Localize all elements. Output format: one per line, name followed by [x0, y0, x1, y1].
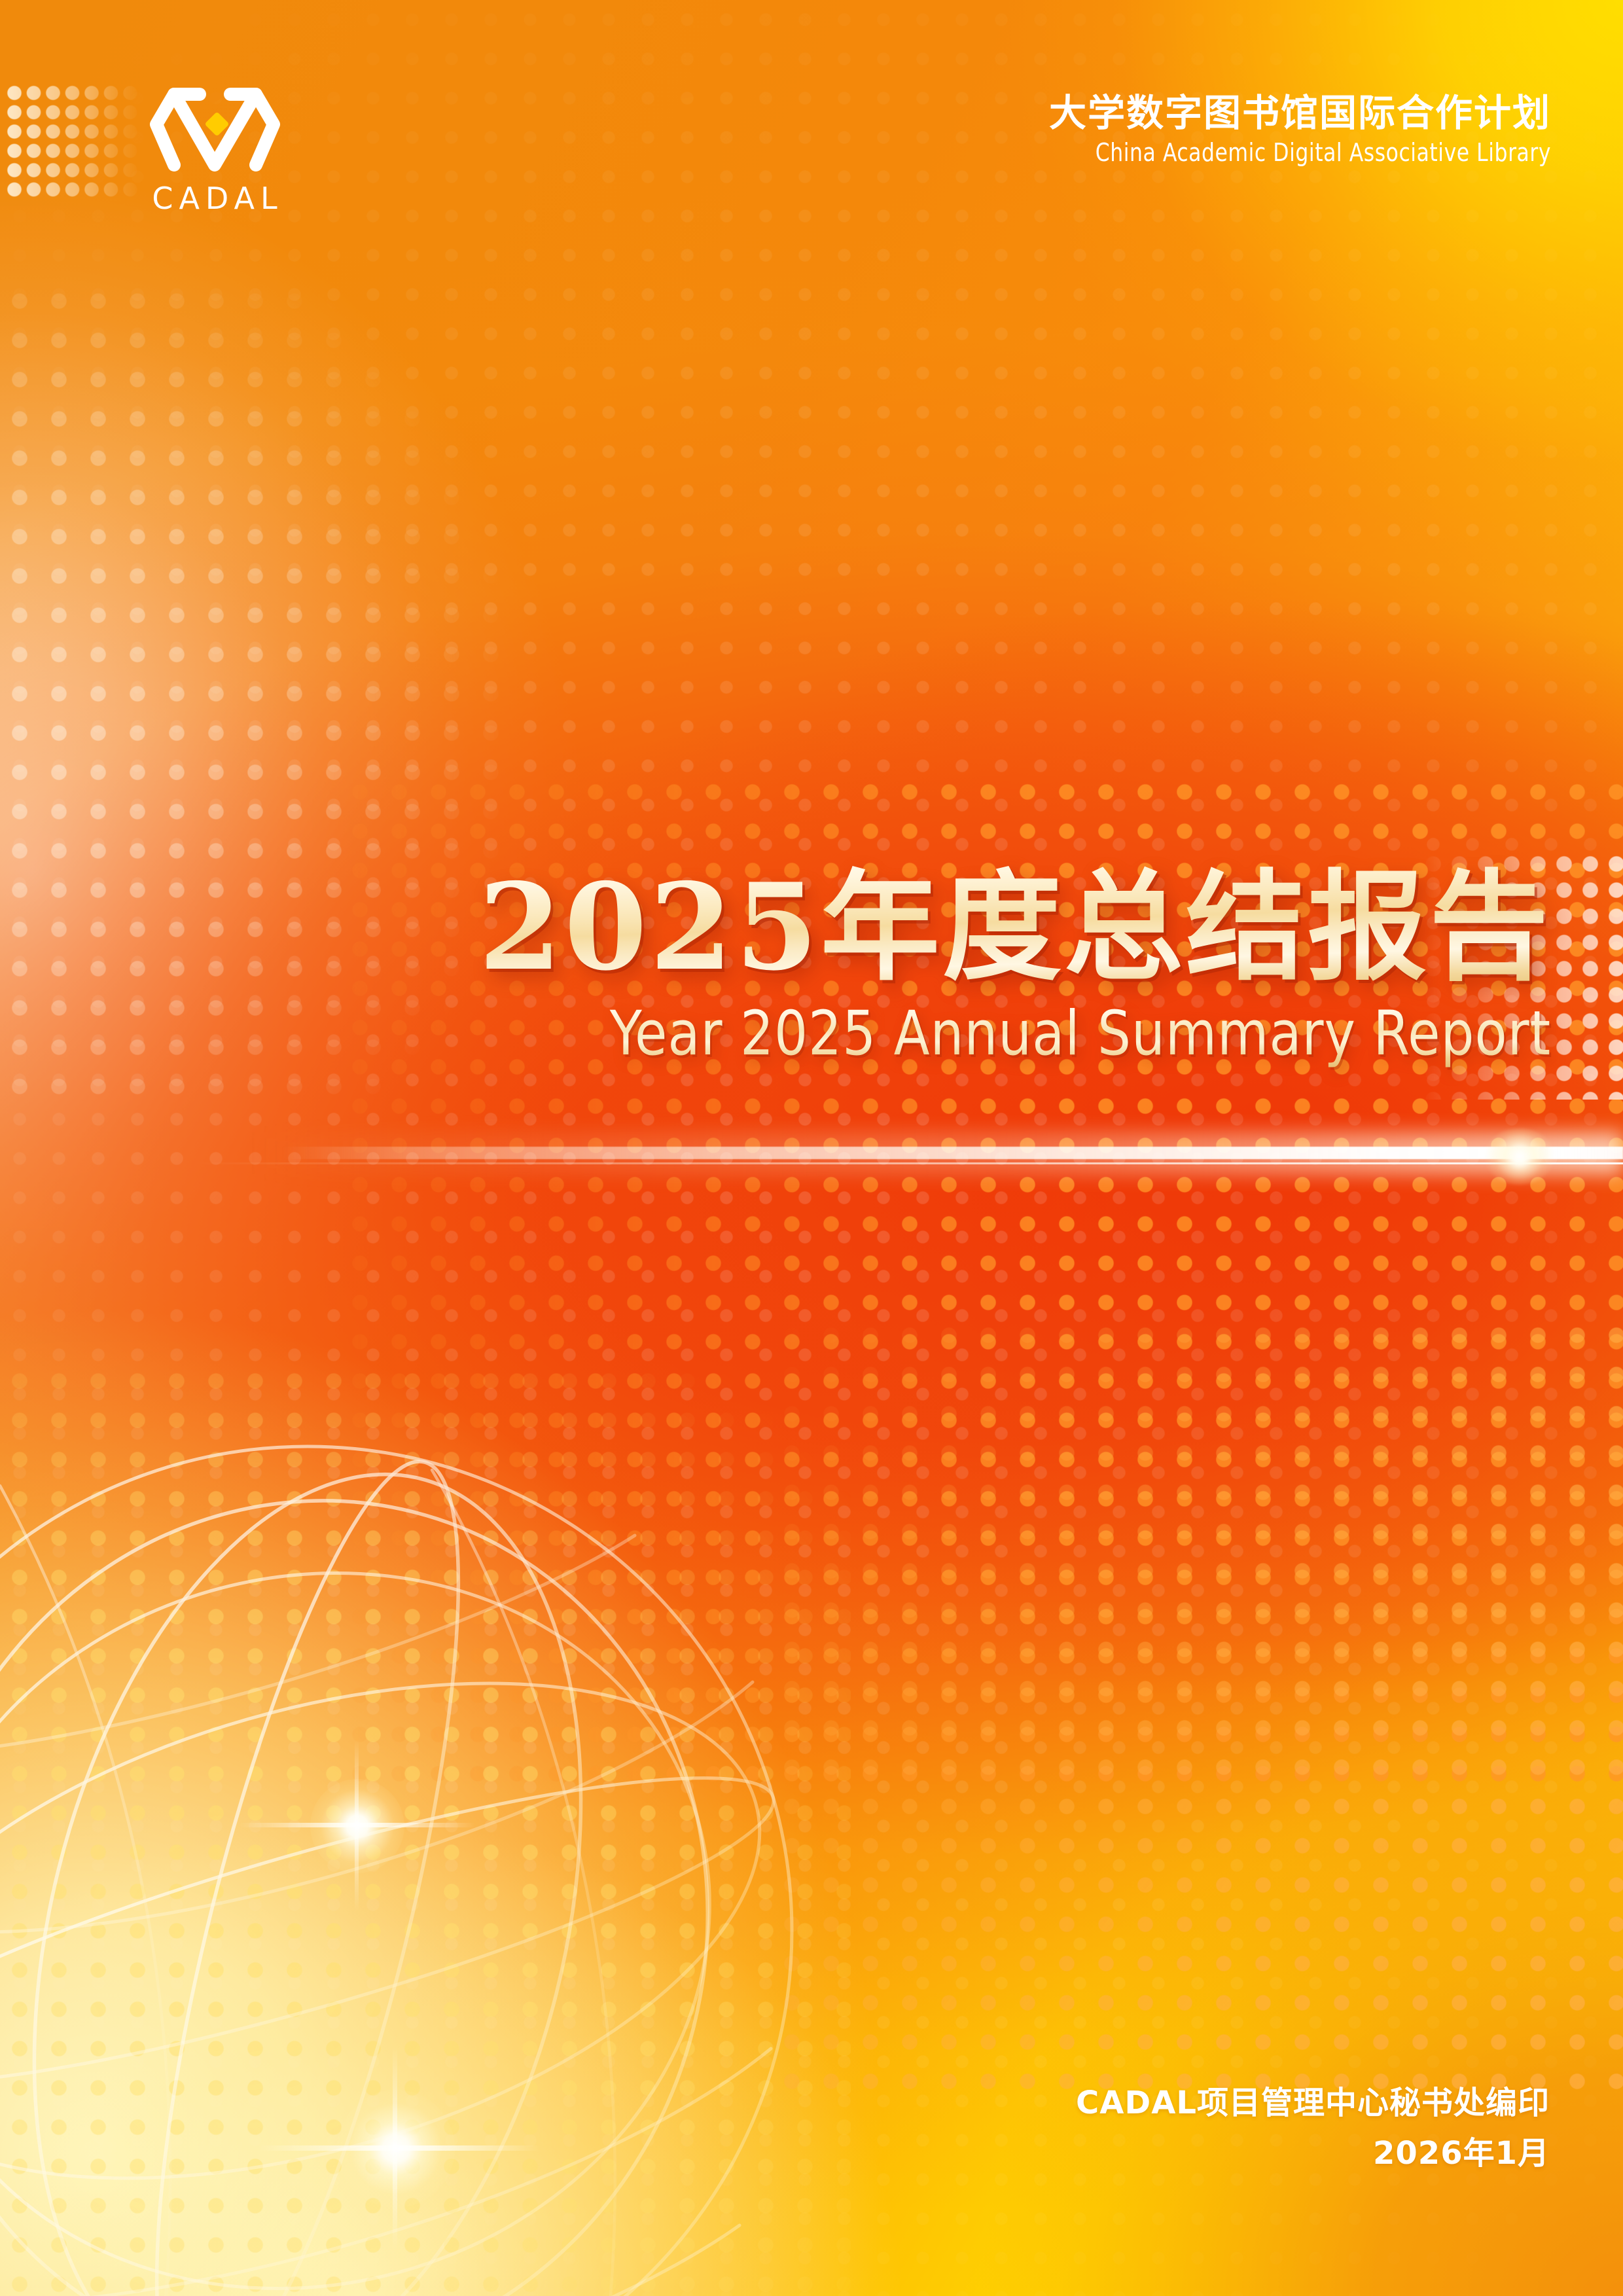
- report-cover-page: CADAL 大学数字图书馆国际合作计划 China Academic Digit…: [0, 0, 1623, 2296]
- star-flare-icon-lower: [259, 2013, 540, 2294]
- light-beam-divider-icon: [0, 1114, 1623, 1193]
- organisation-name-block: 大学数字图书馆国际合作计划 China Academic Digital Ass…: [1049, 92, 1551, 168]
- beam-star-flare-icon: [1427, 1126, 1623, 1185]
- organisation-name-en: China Academic Digital Associative Libra…: [1089, 138, 1551, 168]
- dot-grid-pattern-icon-corner: [5, 84, 143, 200]
- background-hot-orange-zone: [0, 0, 1623, 2296]
- footer-publisher: CADAL项目管理中心秘书处编印: [1076, 2078, 1550, 2129]
- star-flare-icon-upper: [233, 1702, 482, 1950]
- footer-date: 2026年1月: [1076, 2128, 1550, 2179]
- background-bottom-left-pale-2: [0, 0, 1623, 2296]
- dot-grid-pattern-icon-globe-area: [0, 1361, 851, 2296]
- background-hot-orange-core: [0, 0, 1623, 2296]
- background-left-pale-glow: [0, 0, 1623, 2296]
- cadal-logo-icon: [145, 77, 285, 182]
- dot-grid-pattern-icon-field: [0, 0, 1623, 2296]
- cadal-logo-wordmark: CADAL: [130, 183, 300, 213]
- cadal-logo: CADAL: [130, 77, 300, 215]
- background-base-gradient: [0, 0, 1623, 2296]
- background-top-right-yellow: [0, 0, 1623, 2296]
- background-bottom-right-orange: [0, 0, 1623, 2296]
- organisation-name-cn: 大学数字图书馆国际合作计划: [1049, 92, 1551, 135]
- wireframe-globe-icon: [0, 1407, 831, 2296]
- page-subtitle: Year 2025 Annual Summary Report: [494, 999, 1551, 1068]
- cover-footer-block: CADAL项目管理中心秘书处编印 2026年1月: [1076, 2078, 1550, 2180]
- cover-title-block: 2025年度总结报告 Year 2025 Annual Summary Repo…: [438, 864, 1551, 1068]
- dot-grid-pattern-icon-lower-right: [772, 1316, 1623, 2101]
- background-bottom-left-pale: [0, 0, 1623, 2296]
- page-title: 2025年度总结报告: [438, 864, 1551, 990]
